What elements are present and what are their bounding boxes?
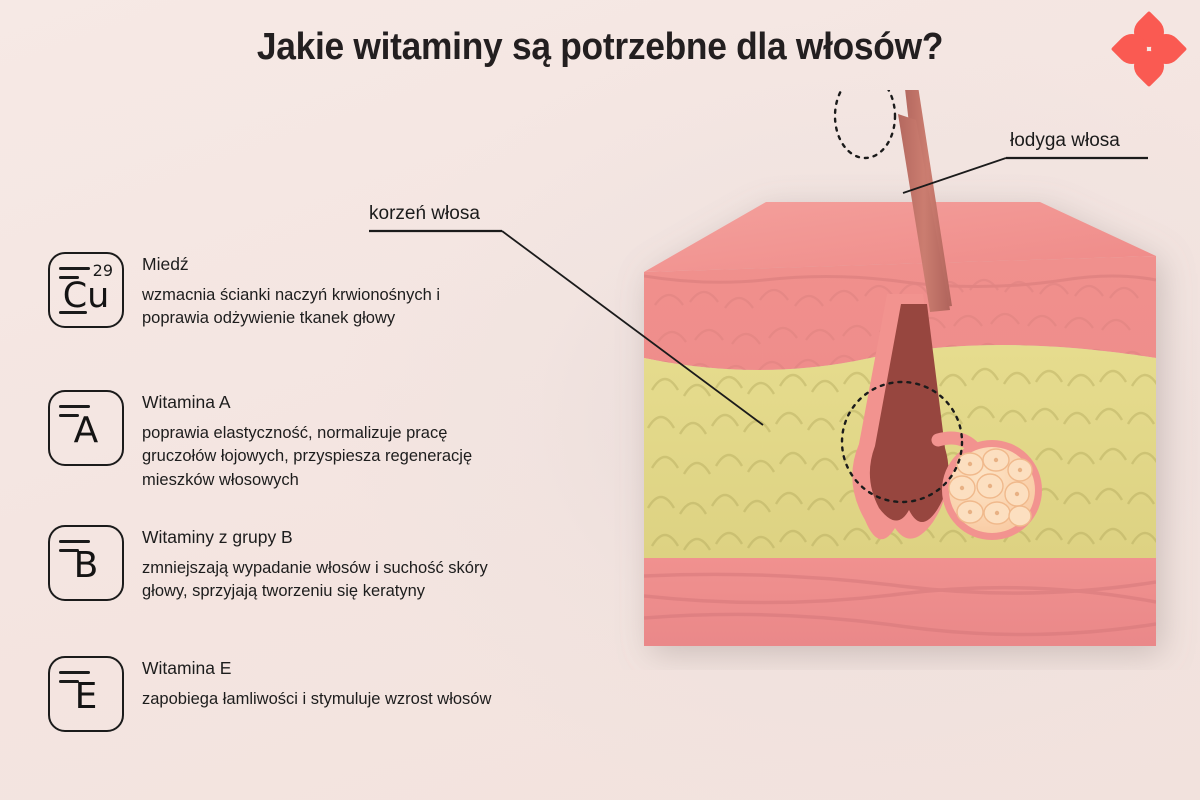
badge-symbol: A <box>50 413 122 449</box>
vitamin-text-block: Miedź wzmacnia ścianki naczyń krwionośny… <box>142 252 440 331</box>
desc-line: gruczołów łojowych, przyspiesza regenera… <box>142 445 472 468</box>
vitamin-description: wzmacnia ścianki naczyń krwionośnych i p… <box>142 284 440 331</box>
vitamin-name: Miedź <box>142 254 440 275</box>
desc-line: wzmacnia ścianki naczyń krwionośnych i <box>142 284 440 307</box>
vitamin-name: Witamina E <box>142 658 491 679</box>
list-item: E Witamina E zapobiega łamliwości i stym… <box>48 656 618 732</box>
badge-symbol: E <box>50 679 122 715</box>
desc-line: zapobiega łamliwości i stymuluje wzrost … <box>142 688 491 711</box>
vitamin-name: Witamina A <box>142 392 472 413</box>
brand-logo <box>1117 17 1181 81</box>
page-title: Jakie witaminy są potrzebne dla włosów? <box>42 26 1158 69</box>
desc-line: poprawia odżywienie tkanek głowy <box>142 307 440 330</box>
vitamin-text-block: Witamina A poprawia elastyczność, normal… <box>142 390 472 492</box>
element-badge-e: E <box>48 656 124 732</box>
badge-dash-icon <box>59 405 90 408</box>
element-badge-b: B <box>48 525 124 601</box>
badge-symbol: Cu <box>50 279 122 314</box>
infographic-canvas: Jakie witaminy są potrzebne dla włosów? <box>0 0 1200 800</box>
desc-line: zmniejszają wypadanie włosów i suchość s… <box>142 557 488 580</box>
badge-dash-icon <box>59 671 90 674</box>
callout-hair-root: korzeń włosa <box>369 203 480 230</box>
vitamin-name: Witaminy z grupy B <box>142 527 488 548</box>
list-item: A Witamina A poprawia elastyczność, norm… <box>48 390 618 492</box>
hair-shaft-highlight-circle <box>835 90 895 158</box>
callout-hair-shaft: łodyga włosa <box>1010 130 1120 157</box>
skin-cross-section-diagram <box>600 90 1200 670</box>
vitamin-description: zmniejszają wypadanie włosów i suchość s… <box>142 557 488 604</box>
badge-dash-icon <box>59 540 90 543</box>
badge-symbol: B <box>50 548 122 584</box>
desc-line: mieszków włosowych <box>142 469 472 492</box>
desc-line: głowy, sprzyjają tworzeniu się keratyny <box>142 580 488 603</box>
badge-dash-icon <box>59 267 90 270</box>
vitamin-text-block: Witaminy z grupy B zmniejszają wypadanie… <box>142 525 488 604</box>
list-item: 29 Cu Miedź wzmacnia ścianki naczyń krwi… <box>48 252 618 331</box>
vitamin-text-block: Witamina E zapobiega łamliwości i stymul… <box>142 656 491 711</box>
vitamin-description: zapobiega łamliwości i stymuluje wzrost … <box>142 688 491 711</box>
element-badge-cu: 29 Cu <box>48 252 124 328</box>
element-badge-a: A <box>48 390 124 466</box>
sebaceous-gland <box>942 440 1042 540</box>
vitamin-description: poprawia elastyczność, normalizuje pracę… <box>142 422 472 492</box>
desc-line: poprawia elastyczność, normalizuje pracę <box>142 422 472 445</box>
list-item: B Witaminy z grupy B zmniejszają wypadan… <box>48 525 618 604</box>
